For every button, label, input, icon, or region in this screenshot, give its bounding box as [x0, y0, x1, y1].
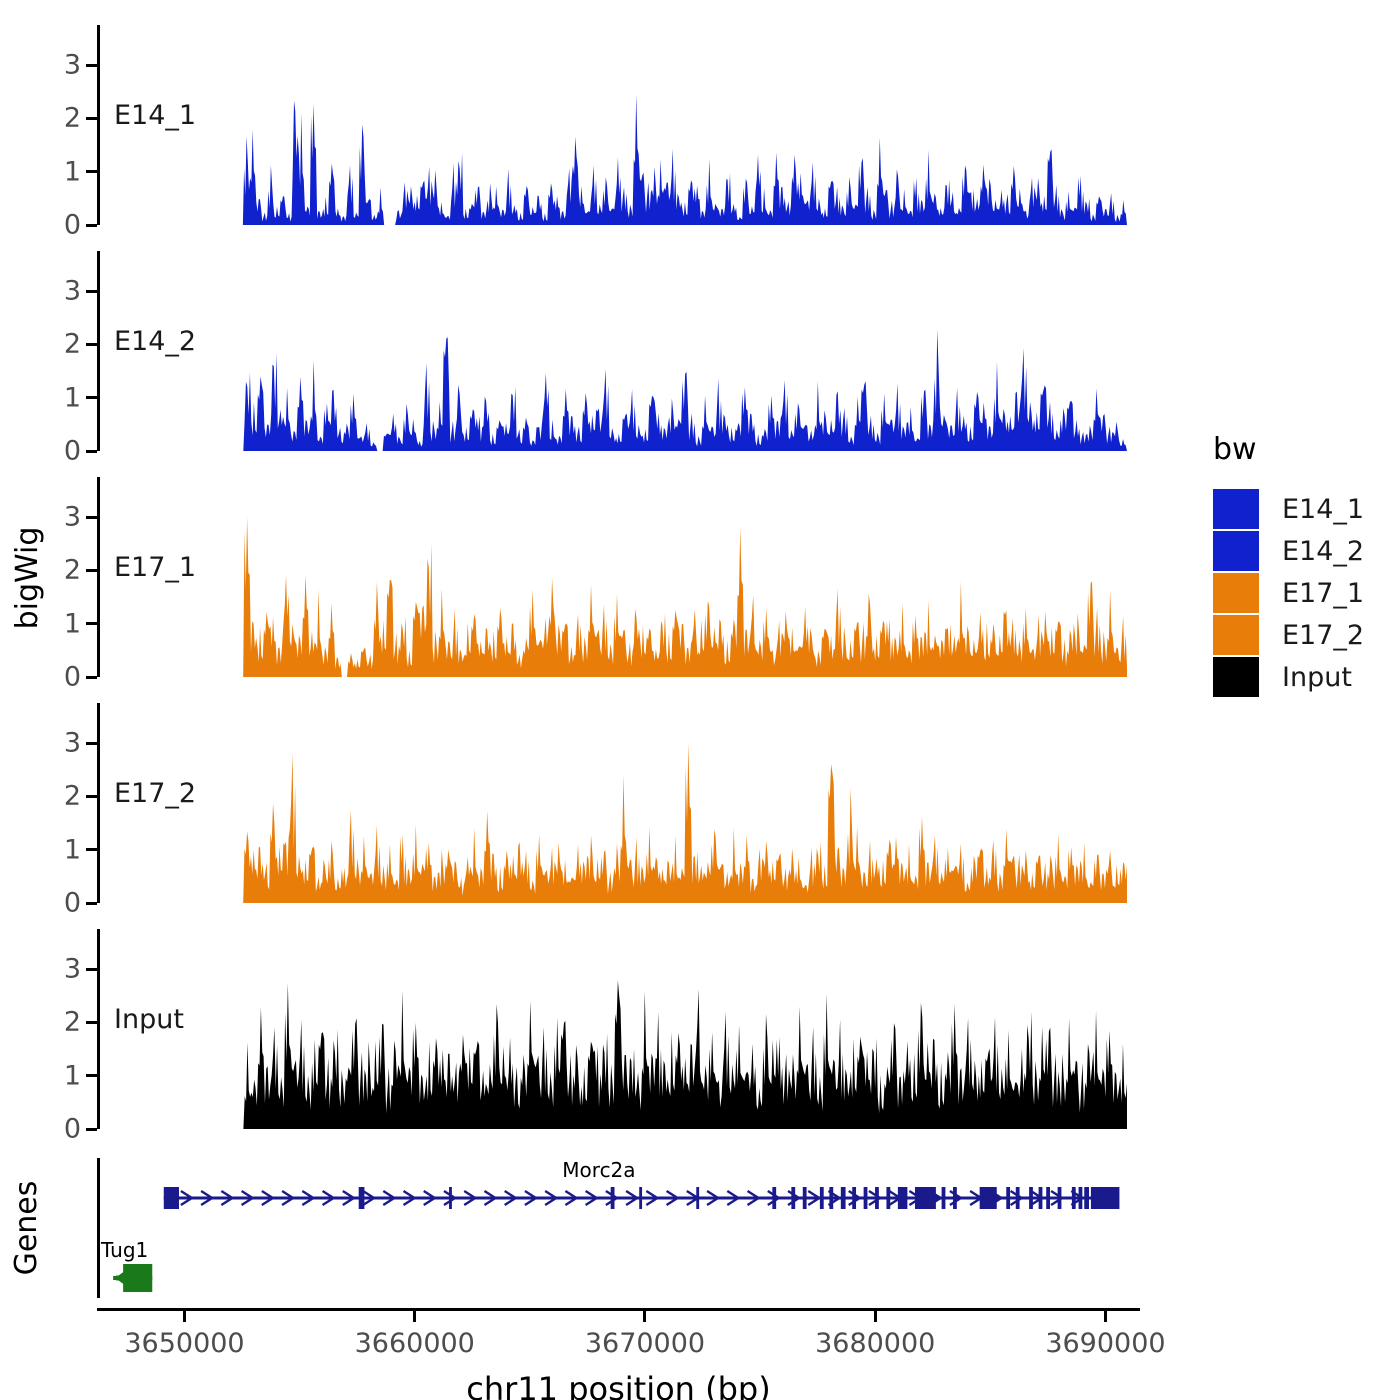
y-tick [86, 1128, 97, 1131]
y-tick [86, 742, 97, 745]
y-tick [86, 170, 97, 173]
x-tick [183, 1311, 186, 1322]
track-panel-input: 0123Input [97, 929, 1140, 1129]
exon [953, 1187, 957, 1209]
track-panel-e14_1: 0123E14_1 [97, 25, 1140, 225]
track-panel-e17_2: 0123E17_2 [97, 703, 1140, 903]
y-tick [86, 1021, 97, 1024]
y-tick [86, 1074, 97, 1077]
genes-panel: Morc2aTug1 [97, 1158, 1140, 1298]
x-axis-line [97, 1308, 1140, 1311]
y-tick [86, 795, 97, 798]
x-tick-label: 3660000 [355, 1328, 475, 1359]
legend-swatch [1213, 615, 1259, 655]
y-tick [86, 676, 97, 679]
y-tick-label: 2 [64, 1007, 81, 1038]
legend-items: E14_1E14_2E17_1E17_2Input [1213, 489, 1364, 697]
x-tick [643, 1311, 646, 1322]
y-tick-label: 2 [64, 103, 81, 134]
x-tick [1104, 1311, 1107, 1322]
y-tick-label: 3 [64, 276, 81, 307]
exon [449, 1187, 452, 1209]
signal-area-e14_2 [97, 251, 1140, 451]
y-tick [86, 848, 97, 851]
exon [1029, 1187, 1033, 1209]
x-tick-label: 3690000 [1045, 1328, 1165, 1359]
y-tick-label: 2 [64, 781, 81, 812]
y-tick-label: 3 [64, 728, 81, 759]
legend-label: E14_2 [1282, 536, 1364, 567]
y-tick-label: 1 [64, 608, 81, 639]
y-tick [86, 343, 97, 346]
gene-morc2a[interactable] [164, 1187, 1120, 1209]
exon [1091, 1187, 1120, 1209]
y-tick [86, 622, 97, 625]
y-tick-label: 1 [64, 834, 81, 865]
x-tick-label: 3650000 [124, 1328, 244, 1359]
signal-area-input [97, 929, 1140, 1129]
legend-swatch [1213, 573, 1259, 613]
legend-item-e17_1[interactable]: E17_1 [1213, 573, 1364, 613]
x-tick [874, 1311, 877, 1322]
exon [864, 1187, 868, 1209]
y-axis-title-bigwig: bigWig [10, 498, 46, 658]
legend-label: E17_1 [1282, 578, 1364, 609]
y-tick-label: 1 [64, 156, 81, 187]
y-tick-label: 3 [64, 502, 81, 533]
y-tick-label: 2 [64, 329, 81, 360]
y-tick-label: 0 [64, 888, 81, 919]
exon [915, 1187, 936, 1209]
legend-label: Input [1282, 662, 1352, 693]
track-panel-e14_2: 0123E14_2 [97, 251, 1140, 451]
legend-item-e14_2[interactable]: E14_2 [1213, 531, 1364, 571]
signal-area-e14_1 [97, 25, 1140, 225]
legend: bw E14_1E14_2E17_1E17_2Input [1213, 432, 1364, 699]
exon [803, 1187, 807, 1209]
y-tick [86, 290, 97, 293]
exon [164, 1187, 179, 1209]
y-axis-title-genes: Genes [9, 1163, 45, 1293]
legend-item-e17_2[interactable]: E17_2 [1213, 615, 1364, 655]
y-tick [86, 450, 97, 453]
exon [791, 1187, 795, 1209]
exon [1084, 1187, 1089, 1209]
exon [829, 1187, 833, 1209]
legend-swatch [1213, 489, 1259, 529]
y-tick-label: 0 [64, 1114, 81, 1145]
track-panel-e17_1: 0123E17_1 [97, 477, 1140, 677]
gene-label-tug1: Tug1 [101, 1238, 148, 1262]
y-tick [86, 516, 97, 519]
y-tick [86, 902, 97, 905]
legend-swatch [1213, 531, 1259, 571]
legend-item-input[interactable]: Input [1213, 657, 1364, 697]
legend-swatch [1213, 657, 1259, 697]
y-tick [86, 968, 97, 971]
x-axis-title: chr11 position (bp) [97, 1370, 1140, 1400]
y-tick [86, 224, 97, 227]
gene-label-morc2a: Morc2a [562, 1158, 635, 1182]
gene-tug1[interactable] [113, 1264, 152, 1292]
legend-label: E17_2 [1282, 620, 1364, 651]
legend-label: E14_1 [1282, 494, 1364, 525]
strand-arrow [115, 1270, 126, 1286]
signal-area-e17_2 [97, 703, 1140, 903]
y-tick-label: 2 [64, 555, 81, 586]
x-tick [413, 1311, 416, 1322]
y-tick [86, 64, 97, 67]
legend-item-e14_1[interactable]: E14_1 [1213, 489, 1364, 529]
y-tick-label: 0 [64, 662, 81, 693]
exon [772, 1187, 776, 1209]
x-tick-label: 3680000 [815, 1328, 935, 1359]
exon [1072, 1187, 1076, 1209]
y-tick-label: 1 [64, 1060, 81, 1091]
y-tick [86, 117, 97, 120]
exon [1046, 1187, 1050, 1209]
y-tick [86, 569, 97, 572]
exon [1006, 1187, 1010, 1209]
y-tick [86, 396, 97, 399]
exon [1016, 1187, 1020, 1209]
exon [639, 1187, 642, 1209]
y-tick-label: 1 [64, 382, 81, 413]
y-tick-label: 3 [64, 50, 81, 81]
exon [852, 1187, 856, 1209]
y-tick-label: 3 [64, 954, 81, 985]
signal-area-e17_1 [97, 477, 1140, 677]
x-tick-label: 3670000 [585, 1328, 705, 1359]
y-tick-label: 0 [64, 210, 81, 241]
genome-browser-figure: bigWig Genes 0123E14_10123E14_20123E17_1… [0, 0, 1400, 1400]
exon [611, 1187, 615, 1209]
y-tick-label: 0 [64, 436, 81, 467]
legend-title: bw [1213, 432, 1364, 467]
